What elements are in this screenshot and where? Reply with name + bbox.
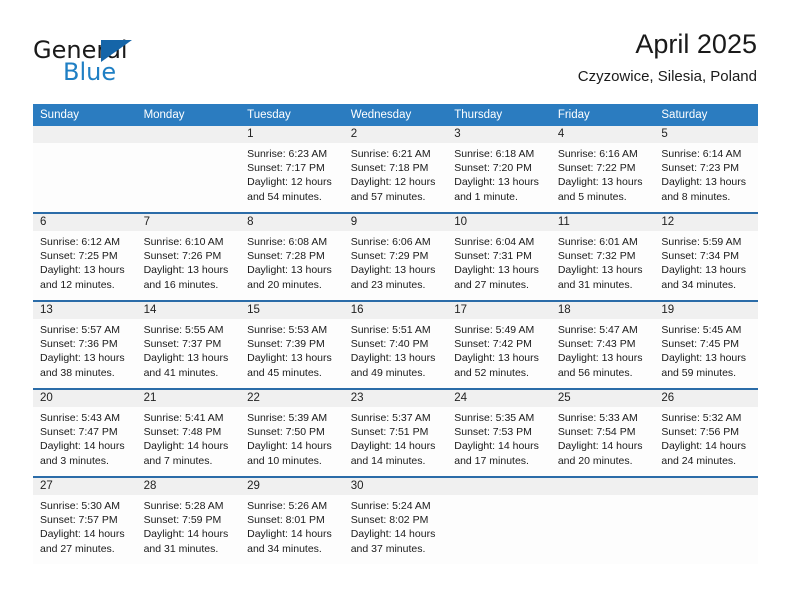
day-cell[interactable]: 5Sunrise: 6:14 AM Sunset: 7:23 PM Daylig… <box>654 126 758 213</box>
day-cell[interactable]: 27Sunrise: 5:30 AM Sunset: 7:57 PM Dayli… <box>33 477 137 564</box>
calendar-week-row: 1Sunrise: 6:23 AM Sunset: 7:17 PM Daylig… <box>33 126 758 213</box>
day-cell[interactable]: 13Sunrise: 5:57 AM Sunset: 7:36 PM Dayli… <box>33 301 137 389</box>
general-blue-logo[interactable]: General Blue <box>33 36 263 92</box>
day-details <box>551 495 655 499</box>
day-details: Sunrise: 6:10 AM Sunset: 7:26 PM Dayligh… <box>137 231 241 292</box>
day-number: 4 <box>551 126 655 143</box>
day-number: 17 <box>447 302 551 319</box>
calendar-week-row: 13Sunrise: 5:57 AM Sunset: 7:36 PM Dayli… <box>33 301 758 389</box>
day-number: 2 <box>344 126 448 143</box>
day-number: 19 <box>654 302 758 319</box>
day-number: 5 <box>654 126 758 143</box>
calendar-page: General Blue April 2025 Czyzowice, Siles… <box>0 0 792 612</box>
day-details: Sunrise: 5:39 AM Sunset: 7:50 PM Dayligh… <box>240 407 344 468</box>
day-number: 3 <box>447 126 551 143</box>
day-number: 9 <box>344 214 448 231</box>
day-details: Sunrise: 6:08 AM Sunset: 7:28 PM Dayligh… <box>240 231 344 292</box>
day-details: Sunrise: 5:55 AM Sunset: 7:37 PM Dayligh… <box>137 319 241 380</box>
day-details <box>137 143 241 147</box>
day-details: Sunrise: 6:12 AM Sunset: 7:25 PM Dayligh… <box>33 231 137 292</box>
day-details: Sunrise: 5:43 AM Sunset: 7:47 PM Dayligh… <box>33 407 137 468</box>
weekday-header-wednesday: Wednesday <box>344 104 448 126</box>
day-details: Sunrise: 6:23 AM Sunset: 7:17 PM Dayligh… <box>240 143 344 204</box>
calendar-week-row: 27Sunrise: 5:30 AM Sunset: 7:57 PM Dayli… <box>33 477 758 564</box>
location-subtitle: Czyzowice, Silesia, Poland <box>578 68 757 86</box>
day-cell[interactable]: 25Sunrise: 5:33 AM Sunset: 7:54 PM Dayli… <box>551 389 655 477</box>
day-details <box>654 495 758 499</box>
day-cell[interactable]: 16Sunrise: 5:51 AM Sunset: 7:40 PM Dayli… <box>344 301 448 389</box>
day-cell[interactable] <box>33 126 137 213</box>
day-number: 6 <box>33 214 137 231</box>
calendar-week-row: 20Sunrise: 5:43 AM Sunset: 7:47 PM Dayli… <box>33 389 758 477</box>
day-details: Sunrise: 5:33 AM Sunset: 7:54 PM Dayligh… <box>551 407 655 468</box>
day-details: Sunrise: 5:32 AM Sunset: 7:56 PM Dayligh… <box>654 407 758 468</box>
day-cell[interactable]: 1Sunrise: 6:23 AM Sunset: 7:17 PM Daylig… <box>240 126 344 213</box>
weekday-header-monday: Monday <box>137 104 241 126</box>
day-cell[interactable]: 9Sunrise: 6:06 AM Sunset: 7:29 PM Daylig… <box>344 213 448 301</box>
day-cell[interactable]: 12Sunrise: 5:59 AM Sunset: 7:34 PM Dayli… <box>654 213 758 301</box>
logo-text-blue: Blue <box>63 58 116 86</box>
day-details: Sunrise: 6:14 AM Sunset: 7:23 PM Dayligh… <box>654 143 758 204</box>
calendar-week-row: 6Sunrise: 6:12 AM Sunset: 7:25 PM Daylig… <box>33 213 758 301</box>
day-number <box>447 478 551 495</box>
day-cell[interactable] <box>137 126 241 213</box>
day-number: 22 <box>240 390 344 407</box>
day-details: Sunrise: 5:30 AM Sunset: 7:57 PM Dayligh… <box>33 495 137 556</box>
day-details: Sunrise: 5:26 AM Sunset: 8:01 PM Dayligh… <box>240 495 344 556</box>
page-title: April 2025 <box>578 28 757 60</box>
day-number: 12 <box>654 214 758 231</box>
day-number <box>654 478 758 495</box>
day-cell[interactable] <box>447 477 551 564</box>
day-cell[interactable]: 11Sunrise: 6:01 AM Sunset: 7:32 PM Dayli… <box>551 213 655 301</box>
weekday-header-sunday: Sunday <box>33 104 137 126</box>
day-number: 30 <box>344 478 448 495</box>
title-block: April 2025 Czyzowice, Silesia, Poland <box>578 28 757 86</box>
weekday-header-tuesday: Tuesday <box>240 104 344 126</box>
day-cell[interactable]: 30Sunrise: 5:24 AM Sunset: 8:02 PM Dayli… <box>344 477 448 564</box>
day-cell[interactable]: 18Sunrise: 5:47 AM Sunset: 7:43 PM Dayli… <box>551 301 655 389</box>
day-number: 7 <box>137 214 241 231</box>
day-number: 16 <box>344 302 448 319</box>
day-cell[interactable]: 8Sunrise: 6:08 AM Sunset: 7:28 PM Daylig… <box>240 213 344 301</box>
day-details: Sunrise: 6:04 AM Sunset: 7:31 PM Dayligh… <box>447 231 551 292</box>
calendar-table: Sunday Monday Tuesday Wednesday Thursday… <box>33 104 758 564</box>
day-details: Sunrise: 5:37 AM Sunset: 7:51 PM Dayligh… <box>344 407 448 468</box>
day-details: Sunrise: 5:49 AM Sunset: 7:42 PM Dayligh… <box>447 319 551 380</box>
day-cell[interactable] <box>551 477 655 564</box>
day-number: 27 <box>33 478 137 495</box>
day-number <box>33 126 137 143</box>
day-cell[interactable]: 14Sunrise: 5:55 AM Sunset: 7:37 PM Dayli… <box>137 301 241 389</box>
day-details: Sunrise: 5:59 AM Sunset: 7:34 PM Dayligh… <box>654 231 758 292</box>
day-cell[interactable]: 20Sunrise: 5:43 AM Sunset: 7:47 PM Dayli… <box>33 389 137 477</box>
day-number: 13 <box>33 302 137 319</box>
day-number: 10 <box>447 214 551 231</box>
day-cell[interactable]: 28Sunrise: 5:28 AM Sunset: 7:59 PM Dayli… <box>137 477 241 564</box>
day-number: 28 <box>137 478 241 495</box>
day-cell[interactable]: 24Sunrise: 5:35 AM Sunset: 7:53 PM Dayli… <box>447 389 551 477</box>
day-cell[interactable]: 26Sunrise: 5:32 AM Sunset: 7:56 PM Dayli… <box>654 389 758 477</box>
day-cell[interactable]: 22Sunrise: 5:39 AM Sunset: 7:50 PM Dayli… <box>240 389 344 477</box>
day-number: 8 <box>240 214 344 231</box>
day-details: Sunrise: 5:51 AM Sunset: 7:40 PM Dayligh… <box>344 319 448 380</box>
day-details: Sunrise: 6:21 AM Sunset: 7:18 PM Dayligh… <box>344 143 448 204</box>
day-details: Sunrise: 5:41 AM Sunset: 7:48 PM Dayligh… <box>137 407 241 468</box>
day-details: Sunrise: 5:45 AM Sunset: 7:45 PM Dayligh… <box>654 319 758 380</box>
day-number: 1 <box>240 126 344 143</box>
weekday-header-thursday: Thursday <box>447 104 551 126</box>
day-number: 26 <box>654 390 758 407</box>
day-number: 23 <box>344 390 448 407</box>
day-cell[interactable]: 23Sunrise: 5:37 AM Sunset: 7:51 PM Dayli… <box>344 389 448 477</box>
day-number: 29 <box>240 478 344 495</box>
day-details: Sunrise: 5:57 AM Sunset: 7:36 PM Dayligh… <box>33 319 137 380</box>
day-cell[interactable]: 29Sunrise: 5:26 AM Sunset: 8:01 PM Dayli… <box>240 477 344 564</box>
day-number: 25 <box>551 390 655 407</box>
day-details: Sunrise: 6:18 AM Sunset: 7:20 PM Dayligh… <box>447 143 551 204</box>
day-cell[interactable]: 17Sunrise: 5:49 AM Sunset: 7:42 PM Dayli… <box>447 301 551 389</box>
day-cell[interactable]: 3Sunrise: 6:18 AM Sunset: 7:20 PM Daylig… <box>447 126 551 213</box>
day-cell[interactable]: 6Sunrise: 6:12 AM Sunset: 7:25 PM Daylig… <box>33 213 137 301</box>
day-cell[interactable]: 10Sunrise: 6:04 AM Sunset: 7:31 PM Dayli… <box>447 213 551 301</box>
day-details: Sunrise: 6:06 AM Sunset: 7:29 PM Dayligh… <box>344 231 448 292</box>
weekday-header-row: Sunday Monday Tuesday Wednesday Thursday… <box>33 104 758 126</box>
day-number: 11 <box>551 214 655 231</box>
day-details: Sunrise: 5:24 AM Sunset: 8:02 PM Dayligh… <box>344 495 448 556</box>
day-cell[interactable]: 2Sunrise: 6:21 AM Sunset: 7:18 PM Daylig… <box>344 126 448 213</box>
day-details: Sunrise: 5:47 AM Sunset: 7:43 PM Dayligh… <box>551 319 655 380</box>
day-cell[interactable]: 4Sunrise: 6:16 AM Sunset: 7:22 PM Daylig… <box>551 126 655 213</box>
weekday-header-friday: Friday <box>551 104 655 126</box>
day-details: Sunrise: 6:16 AM Sunset: 7:22 PM Dayligh… <box>551 143 655 204</box>
day-number <box>137 126 241 143</box>
day-details: Sunrise: 5:35 AM Sunset: 7:53 PM Dayligh… <box>447 407 551 468</box>
day-cell[interactable]: 21Sunrise: 5:41 AM Sunset: 7:48 PM Dayli… <box>137 389 241 477</box>
day-details: Sunrise: 6:01 AM Sunset: 7:32 PM Dayligh… <box>551 231 655 292</box>
day-number: 21 <box>137 390 241 407</box>
day-cell[interactable]: 7Sunrise: 6:10 AM Sunset: 7:26 PM Daylig… <box>137 213 241 301</box>
day-cell[interactable]: 15Sunrise: 5:53 AM Sunset: 7:39 PM Dayli… <box>240 301 344 389</box>
day-number: 15 <box>240 302 344 319</box>
day-number <box>551 478 655 495</box>
day-details: Sunrise: 5:28 AM Sunset: 7:59 PM Dayligh… <box>137 495 241 556</box>
day-number: 14 <box>137 302 241 319</box>
page-header: General Blue April 2025 Czyzowice, Siles… <box>33 28 757 100</box>
day-number: 18 <box>551 302 655 319</box>
day-details <box>447 495 551 499</box>
day-number: 20 <box>33 390 137 407</box>
day-cell[interactable] <box>654 477 758 564</box>
day-details <box>33 143 137 147</box>
weekday-header-saturday: Saturday <box>654 104 758 126</box>
day-number: 24 <box>447 390 551 407</box>
day-cell[interactable]: 19Sunrise: 5:45 AM Sunset: 7:45 PM Dayli… <box>654 301 758 389</box>
day-details: Sunrise: 5:53 AM Sunset: 7:39 PM Dayligh… <box>240 319 344 380</box>
